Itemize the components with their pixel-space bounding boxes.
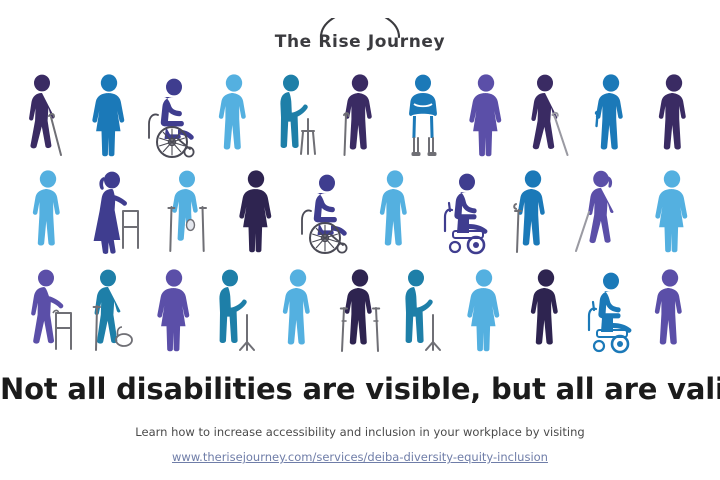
person-standing-male: [642, 263, 698, 358]
person-with-cane-walking-icon: [18, 71, 74, 163]
person-standing-male: [646, 68, 702, 163]
person-in-power-wheelchair: [436, 164, 492, 259]
person-in-manual-wheelchair-icon: [297, 167, 353, 259]
person-with-prosthetic-legs: [395, 68, 451, 163]
person-leaning-on-cane: [394, 263, 450, 358]
person-standing-female: [644, 164, 700, 259]
person-with-walking-stool: [269, 68, 325, 163]
brand-logo: The Rise Journey: [0, 18, 720, 52]
person-standing-female: [228, 164, 284, 259]
person-leaning-on-cane-icon: [208, 266, 264, 358]
person-standing-male-icon: [642, 266, 698, 358]
person-with-white-cane-walking: [520, 68, 576, 163]
person-with-prosthetic-legs-icon: [395, 71, 451, 163]
person-with-two-crutches-icon: [332, 266, 388, 358]
person-with-cane-standing: [332, 68, 388, 163]
person-standing-male: [206, 68, 262, 163]
pictogram-row-3: [22, 263, 698, 358]
person-with-crutch-and-bag: [84, 263, 140, 358]
person-standing-male-icon: [206, 71, 262, 163]
headline: Not all disabilities are visible, but al…: [0, 372, 720, 406]
person-standing-male-icon: [518, 266, 574, 358]
person-with-hand-cane-icon: [583, 71, 639, 163]
person-in-manual-wheelchair: [144, 68, 200, 163]
person-standing-female: [146, 263, 202, 358]
person-standing-male: [20, 164, 76, 259]
poster: The Rise Journey: [0, 0, 720, 480]
person-in-power-wheelchair: [580, 263, 636, 358]
pictogram-row-2: [20, 164, 700, 259]
person-with-walker-icon: [22, 266, 78, 358]
girl-with-walker-icon: [89, 167, 145, 259]
pictogram-grid: [18, 68, 702, 363]
woman-with-white-cane-walking: [575, 164, 631, 259]
person-leaning-on-cane-icon: [394, 266, 450, 358]
person-standing-female-icon: [146, 266, 202, 358]
person-with-white-cane-walking-icon: [520, 71, 576, 163]
person-standing-male: [270, 263, 326, 358]
brand-name: The Rise Journey: [275, 32, 445, 52]
person-standing-female-icon: [81, 71, 137, 163]
person-standing-female: [458, 68, 514, 163]
person-with-cane-standing-icon: [332, 71, 388, 163]
person-with-forearm-crutch: [505, 164, 561, 259]
person-with-two-crutches: [332, 263, 388, 358]
person-standing-male: [367, 164, 423, 259]
woman-with-white-cane-walking-icon: [575, 167, 631, 259]
person-with-forearm-crutch-icon: [505, 167, 561, 259]
person-with-walking-stool-icon: [269, 71, 325, 163]
url-line: www.therisejourney.com/services/deiba-di…: [0, 448, 720, 466]
person-standing-female: [456, 263, 512, 358]
girl-with-walker: [89, 164, 145, 259]
person-with-cane-walking: [18, 68, 74, 163]
person-standing-female-icon: [228, 167, 284, 259]
pictogram-row-1: [18, 68, 702, 163]
person-standing-female-icon: [456, 266, 512, 358]
person-in-manual-wheelchair-icon: [144, 71, 200, 163]
person-leaning-on-cane: [208, 263, 264, 358]
person-in-manual-wheelchair: [297, 164, 353, 259]
person-standing-male-icon: [20, 167, 76, 259]
person-in-power-wheelchair-icon: [436, 167, 492, 259]
person-standing-female: [81, 68, 137, 163]
person-with-hand-cane: [583, 68, 639, 163]
person-standing-male-icon: [367, 167, 423, 259]
person-with-crutches-amputee: [159, 164, 215, 259]
website-link[interactable]: www.therisejourney.com/services/deiba-di…: [172, 450, 548, 464]
person-with-walker: [22, 263, 78, 358]
person-with-crutches-amputee-icon: [159, 167, 215, 259]
person-standing-male-icon: [646, 71, 702, 163]
person-with-crutch-and-bag-icon: [84, 266, 140, 358]
person-standing-female-icon: [644, 167, 700, 259]
person-standing-male: [518, 263, 574, 358]
person-in-power-wheelchair-icon: [580, 266, 636, 358]
person-standing-male-icon: [270, 266, 326, 358]
subtext: Learn how to increase accessibility and …: [0, 425, 720, 439]
person-standing-female-icon: [458, 71, 514, 163]
